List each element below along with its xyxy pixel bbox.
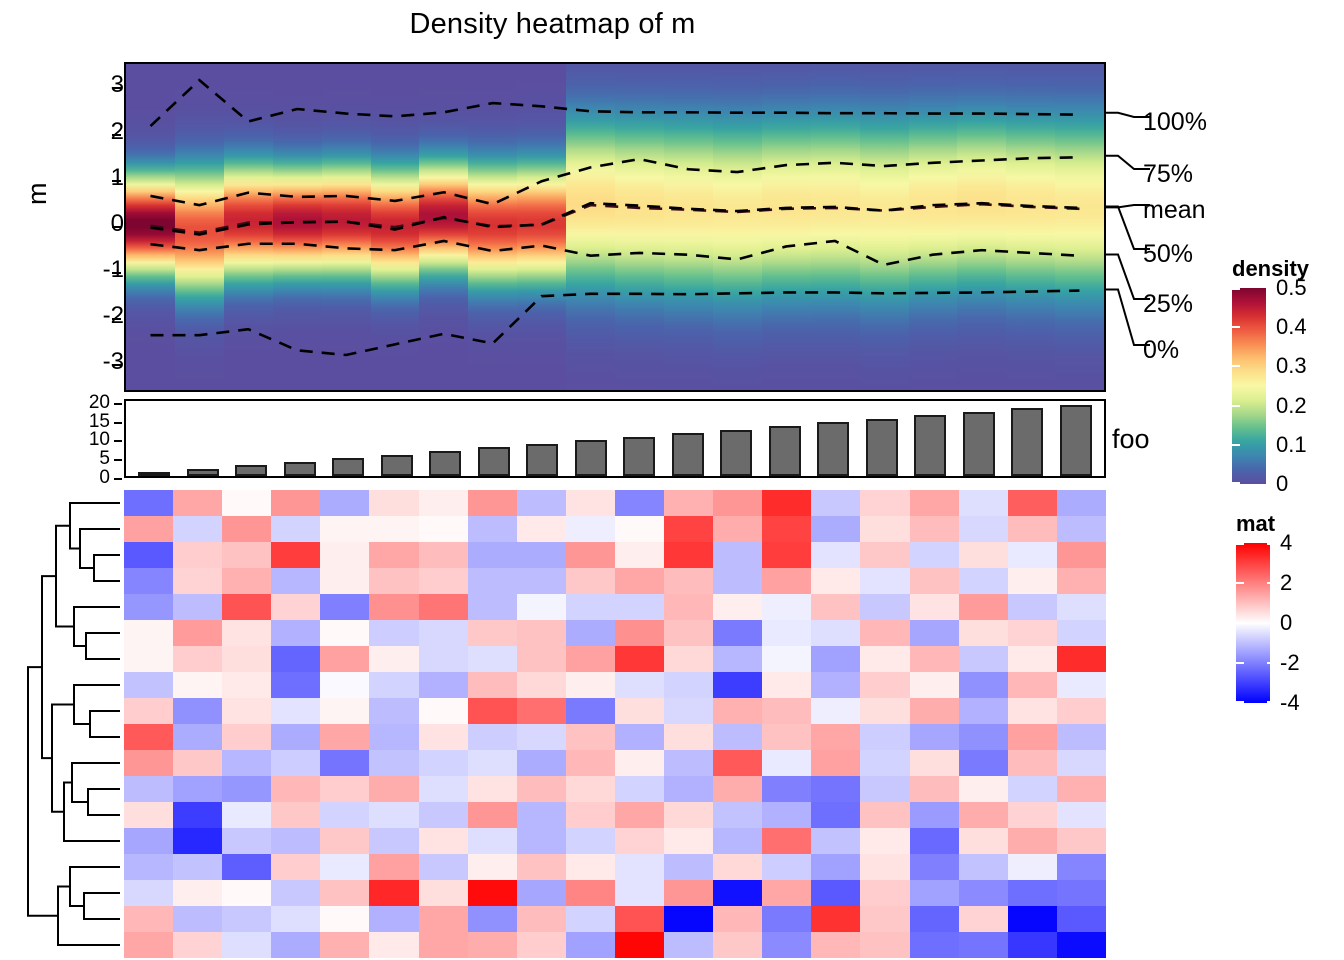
- mat-cell[interactable]: [124, 568, 173, 594]
- mat-cell[interactable]: [664, 490, 713, 516]
- mat-cell[interactable]: [762, 724, 811, 750]
- mat-cell[interactable]: [713, 516, 762, 542]
- mat-cell[interactable]: [124, 516, 173, 542]
- mat-cell[interactable]: [1057, 828, 1106, 854]
- mat-cell[interactable]: [762, 932, 811, 958]
- mat-cell[interactable]: [369, 646, 418, 672]
- mat-cell[interactable]: [762, 594, 811, 620]
- mat-cell[interactable]: [173, 490, 222, 516]
- mat-cell[interactable]: [468, 724, 517, 750]
- mat-cell[interactable]: [860, 932, 909, 958]
- mat-cell[interactable]: [1057, 568, 1106, 594]
- mat-cell[interactable]: [713, 802, 762, 828]
- mat-cell[interactable]: [468, 490, 517, 516]
- mat-cell[interactable]: [271, 620, 320, 646]
- mat-cell[interactable]: [615, 542, 664, 568]
- bar[interactable]: [138, 472, 170, 476]
- mat-cell[interactable]: [173, 568, 222, 594]
- mat-cell[interactable]: [369, 906, 418, 932]
- mat-cell[interactable]: [1008, 672, 1057, 698]
- mat-cell[interactable]: [1008, 646, 1057, 672]
- mat-cell[interactable]: [271, 828, 320, 854]
- mat-cell[interactable]: [1057, 672, 1106, 698]
- mat-cell[interactable]: [419, 906, 468, 932]
- mat-cell[interactable]: [173, 880, 222, 906]
- mat-cell[interactable]: [468, 516, 517, 542]
- mat-cell[interactable]: [566, 750, 615, 776]
- mat-cell[interactable]: [369, 490, 418, 516]
- mat-cell[interactable]: [1008, 906, 1057, 932]
- mat-cell[interactable]: [959, 724, 1008, 750]
- mat-cell[interactable]: [222, 750, 271, 776]
- mat-cell[interactable]: [320, 568, 369, 594]
- mat-cell[interactable]: [320, 672, 369, 698]
- mat-cell[interactable]: [860, 516, 909, 542]
- mat-cell[interactable]: [222, 906, 271, 932]
- mat-cell[interactable]: [566, 854, 615, 880]
- row-dendrogram[interactable]: [8, 490, 120, 958]
- mat-cell[interactable]: [615, 880, 664, 906]
- mat-cell[interactable]: [271, 542, 320, 568]
- mat-cell[interactable]: [320, 750, 369, 776]
- mat-cell[interactable]: [959, 620, 1008, 646]
- mat-cell[interactable]: [713, 828, 762, 854]
- mat-cell[interactable]: [419, 724, 468, 750]
- mat-cell[interactable]: [173, 672, 222, 698]
- mat-cell[interactable]: [664, 828, 713, 854]
- mat-cell[interactable]: [173, 932, 222, 958]
- mat-cell[interactable]: [517, 906, 566, 932]
- mat-cell[interactable]: [222, 828, 271, 854]
- mat-cell[interactable]: [1057, 542, 1106, 568]
- mat-cell[interactable]: [860, 490, 909, 516]
- bar[interactable]: [526, 444, 558, 476]
- mat-cell[interactable]: [959, 880, 1008, 906]
- mat-cell[interactable]: [762, 698, 811, 724]
- mat-cell[interactable]: [811, 750, 860, 776]
- mat-cell[interactable]: [468, 750, 517, 776]
- mat-cell[interactable]: [222, 672, 271, 698]
- mat-cell[interactable]: [320, 802, 369, 828]
- mat-cell[interactable]: [419, 828, 468, 854]
- mat-cell[interactable]: [860, 620, 909, 646]
- mat-cell[interactable]: [664, 542, 713, 568]
- mat-cell[interactable]: [811, 802, 860, 828]
- mat-cell[interactable]: [320, 490, 369, 516]
- mat-cell[interactable]: [713, 594, 762, 620]
- mat-cell[interactable]: [860, 906, 909, 932]
- mat-cell[interactable]: [1008, 698, 1057, 724]
- mat-cell[interactable]: [1008, 880, 1057, 906]
- mat-cell[interactable]: [615, 568, 664, 594]
- mat-cell[interactable]: [173, 620, 222, 646]
- mat-cell[interactable]: [811, 776, 860, 802]
- mat-cell[interactable]: [271, 490, 320, 516]
- mat-cell[interactable]: [762, 802, 811, 828]
- bar[interactable]: [720, 430, 752, 476]
- mat-cell[interactable]: [615, 776, 664, 802]
- mat-cell[interactable]: [664, 698, 713, 724]
- mat-cell[interactable]: [124, 776, 173, 802]
- mat-cell[interactable]: [320, 854, 369, 880]
- mat-cell[interactable]: [566, 698, 615, 724]
- mat-cell[interactable]: [419, 698, 468, 724]
- bar[interactable]: [575, 440, 607, 476]
- mat-cell[interactable]: [173, 724, 222, 750]
- mat-cell[interactable]: [762, 750, 811, 776]
- mat-cell[interactable]: [369, 516, 418, 542]
- mat-cell[interactable]: [811, 594, 860, 620]
- mat-cell[interactable]: [271, 646, 320, 672]
- bar[interactable]: [478, 447, 510, 476]
- mat-cell[interactable]: [664, 854, 713, 880]
- mat-cell[interactable]: [762, 620, 811, 646]
- mat-cell[interactable]: [419, 620, 468, 646]
- mat-cell[interactable]: [762, 568, 811, 594]
- mat-cell[interactable]: [713, 646, 762, 672]
- mat-cell[interactable]: [762, 880, 811, 906]
- mat-cell[interactable]: [517, 568, 566, 594]
- bar[interactable]: [866, 419, 898, 476]
- mat-cell[interactable]: [517, 672, 566, 698]
- mat-cell[interactable]: [1008, 854, 1057, 880]
- mat-cell[interactable]: [811, 646, 860, 672]
- bar[interactable]: [672, 433, 704, 476]
- mat-cell[interactable]: [222, 698, 271, 724]
- mat-cell[interactable]: [419, 750, 468, 776]
- mat-cell[interactable]: [517, 594, 566, 620]
- mat-cell[interactable]: [615, 750, 664, 776]
- mat-cell[interactable]: [173, 854, 222, 880]
- mat-cell[interactable]: [664, 568, 713, 594]
- mat-cell[interactable]: [713, 750, 762, 776]
- mat-cell[interactable]: [173, 906, 222, 932]
- mat-cell[interactable]: [811, 490, 860, 516]
- mat-cell[interactable]: [173, 594, 222, 620]
- mat-cell[interactable]: [222, 646, 271, 672]
- mat-cell[interactable]: [517, 802, 566, 828]
- mat-cell[interactable]: [271, 672, 320, 698]
- mat-cell[interactable]: [468, 906, 517, 932]
- mat-cell[interactable]: [468, 802, 517, 828]
- mat-cell[interactable]: [566, 932, 615, 958]
- mat-cell[interactable]: [271, 724, 320, 750]
- mat-cell[interactable]: [468, 932, 517, 958]
- bar[interactable]: [429, 451, 461, 476]
- mat-cell[interactable]: [860, 672, 909, 698]
- mat-cell[interactable]: [468, 698, 517, 724]
- mat-cell[interactable]: [173, 646, 222, 672]
- mat-cell[interactable]: [762, 828, 811, 854]
- mat-cell[interactable]: [860, 750, 909, 776]
- mat-cell[interactable]: [124, 802, 173, 828]
- mat-cell[interactable]: [173, 750, 222, 776]
- mat-cell[interactable]: [910, 620, 959, 646]
- mat-cell[interactable]: [713, 672, 762, 698]
- mat-cell[interactable]: [566, 672, 615, 698]
- mat-cell[interactable]: [1008, 932, 1057, 958]
- mat-cell[interactable]: [860, 594, 909, 620]
- mat-cell[interactable]: [713, 854, 762, 880]
- mat-cell[interactable]: [713, 620, 762, 646]
- mat-cell[interactable]: [664, 724, 713, 750]
- mat-cell[interactable]: [615, 724, 664, 750]
- mat-cell[interactable]: [173, 776, 222, 802]
- mat-cell[interactable]: [713, 724, 762, 750]
- mat-cell[interactable]: [959, 542, 1008, 568]
- mat-cell[interactable]: [222, 724, 271, 750]
- mat-cell[interactable]: [369, 568, 418, 594]
- mat-cell[interactable]: [419, 490, 468, 516]
- mat-cell[interactable]: [271, 880, 320, 906]
- mat-cell[interactable]: [910, 828, 959, 854]
- mat-cell[interactable]: [124, 880, 173, 906]
- mat-cell[interactable]: [173, 516, 222, 542]
- mat-cell[interactable]: [615, 620, 664, 646]
- bar[interactable]: [1011, 408, 1043, 476]
- mat-cell[interactable]: [664, 932, 713, 958]
- bar[interactable]: [381, 455, 413, 476]
- mat-cell[interactable]: [271, 776, 320, 802]
- mat-cell[interactable]: [419, 568, 468, 594]
- mat-cell[interactable]: [910, 932, 959, 958]
- mat-cell[interactable]: [1057, 516, 1106, 542]
- mat-cell[interactable]: [713, 568, 762, 594]
- mat-cell[interactable]: [910, 516, 959, 542]
- mat-cell[interactable]: [320, 880, 369, 906]
- mat-cell[interactable]: [713, 906, 762, 932]
- mat-cell[interactable]: [517, 854, 566, 880]
- mat-cell[interactable]: [1008, 490, 1057, 516]
- mat-cell[interactable]: [222, 620, 271, 646]
- mat-cell[interactable]: [762, 516, 811, 542]
- mat-cell[interactable]: [762, 490, 811, 516]
- mat-cell[interactable]: [222, 516, 271, 542]
- mat-cell[interactable]: [320, 516, 369, 542]
- mat-cell[interactable]: [369, 542, 418, 568]
- mat-cell[interactable]: [517, 828, 566, 854]
- mat-cell[interactable]: [1008, 828, 1057, 854]
- mat-cell[interactable]: [320, 698, 369, 724]
- mat-cell[interactable]: [959, 802, 1008, 828]
- bar[interactable]: [769, 426, 801, 476]
- mat-cell[interactable]: [860, 854, 909, 880]
- mat-cell[interactable]: [468, 542, 517, 568]
- mat-cell[interactable]: [124, 854, 173, 880]
- mat-cell[interactable]: [468, 672, 517, 698]
- mat-cell[interactable]: [419, 516, 468, 542]
- mat-cell[interactable]: [419, 646, 468, 672]
- mat-cell[interactable]: [222, 802, 271, 828]
- mat-cell[interactable]: [566, 828, 615, 854]
- mat-cell[interactable]: [320, 620, 369, 646]
- mat-cell[interactable]: [1057, 490, 1106, 516]
- mat-cell[interactable]: [419, 880, 468, 906]
- mat-cell[interactable]: [468, 568, 517, 594]
- mat-cell[interactable]: [1008, 568, 1057, 594]
- mat-cell[interactable]: [1057, 776, 1106, 802]
- mat-cell[interactable]: [369, 828, 418, 854]
- mat-cell[interactable]: [566, 646, 615, 672]
- mat-cell[interactable]: [1008, 724, 1057, 750]
- mat-cell[interactable]: [517, 490, 566, 516]
- mat-cell[interactable]: [271, 568, 320, 594]
- bar[interactable]: [817, 422, 849, 476]
- mat-cell[interactable]: [860, 880, 909, 906]
- mat-cell[interactable]: [566, 880, 615, 906]
- mat-cell[interactable]: [369, 776, 418, 802]
- mat-cell[interactable]: [811, 542, 860, 568]
- mat-cell[interactable]: [1057, 880, 1106, 906]
- mat-cell[interactable]: [910, 490, 959, 516]
- mat-cell[interactable]: [271, 906, 320, 932]
- mat-cell[interactable]: [222, 542, 271, 568]
- mat-cell[interactable]: [1057, 854, 1106, 880]
- mat-cell[interactable]: [615, 516, 664, 542]
- mat-cell[interactable]: [910, 672, 959, 698]
- mat-cell[interactable]: [517, 542, 566, 568]
- mat-cell[interactable]: [615, 932, 664, 958]
- mat-heatmap-panel[interactable]: [124, 490, 1106, 958]
- mat-cell[interactable]: [468, 854, 517, 880]
- mat-cell[interactable]: [615, 802, 664, 828]
- mat-cell[interactable]: [419, 594, 468, 620]
- mat-cell[interactable]: [959, 776, 1008, 802]
- mat-cell[interactable]: [1057, 802, 1106, 828]
- mat-cell[interactable]: [222, 594, 271, 620]
- mat-cell[interactable]: [615, 594, 664, 620]
- mat-cell[interactable]: [1057, 750, 1106, 776]
- mat-cell[interactable]: [222, 776, 271, 802]
- mat-cell[interactable]: [124, 620, 173, 646]
- mat-cell[interactable]: [369, 620, 418, 646]
- mat-cell[interactable]: [173, 698, 222, 724]
- mat-cell[interactable]: [615, 646, 664, 672]
- mat-cell[interactable]: [664, 672, 713, 698]
- mat-cell[interactable]: [124, 490, 173, 516]
- mat-cell[interactable]: [517, 516, 566, 542]
- mat-cell[interactable]: [222, 880, 271, 906]
- mat-cell[interactable]: [1008, 750, 1057, 776]
- mat-cell[interactable]: [664, 906, 713, 932]
- mat-cell[interactable]: [860, 542, 909, 568]
- bar[interactable]: [187, 469, 219, 476]
- mat-cell[interactable]: [910, 594, 959, 620]
- mat-cell[interactable]: [959, 698, 1008, 724]
- mat-cell[interactable]: [124, 646, 173, 672]
- mat-cell[interactable]: [1008, 594, 1057, 620]
- mat-cell[interactable]: [419, 672, 468, 698]
- mat-cell[interactable]: [860, 698, 909, 724]
- bar[interactable]: [284, 462, 316, 476]
- foo-barplot-panel[interactable]: [124, 399, 1106, 478]
- mat-cell[interactable]: [762, 776, 811, 802]
- mat-cell[interactable]: [860, 802, 909, 828]
- mat-cell[interactable]: [762, 906, 811, 932]
- mat-cell[interactable]: [762, 672, 811, 698]
- mat-cell[interactable]: [811, 828, 860, 854]
- mat-cell[interactable]: [320, 932, 369, 958]
- mat-cell[interactable]: [811, 568, 860, 594]
- mat-cell[interactable]: [910, 854, 959, 880]
- density-heatmap-panel[interactable]: [124, 62, 1106, 392]
- mat-cell[interactable]: [419, 854, 468, 880]
- mat-cell[interactable]: [860, 646, 909, 672]
- mat-cell[interactable]: [1008, 516, 1057, 542]
- mat-cell[interactable]: [369, 932, 418, 958]
- mat-cell[interactable]: [1057, 594, 1106, 620]
- mat-cell[interactable]: [959, 828, 1008, 854]
- mat-cell[interactable]: [320, 828, 369, 854]
- mat-cell[interactable]: [222, 932, 271, 958]
- mat-cell[interactable]: [419, 542, 468, 568]
- mat-cell[interactable]: [860, 776, 909, 802]
- mat-cell[interactable]: [959, 594, 1008, 620]
- mat-cell[interactable]: [713, 698, 762, 724]
- mat-cell[interactable]: [468, 776, 517, 802]
- mat-cell[interactable]: [860, 568, 909, 594]
- mat-cell[interactable]: [517, 620, 566, 646]
- mat-cell[interactable]: [369, 672, 418, 698]
- mat-cell[interactable]: [1057, 646, 1106, 672]
- mat-cell[interactable]: [124, 698, 173, 724]
- mat-cell[interactable]: [1008, 776, 1057, 802]
- mat-cell[interactable]: [369, 698, 418, 724]
- mat-cell[interactable]: [468, 594, 517, 620]
- mat-cell[interactable]: [271, 750, 320, 776]
- mat-cell[interactable]: [124, 672, 173, 698]
- mat-cell[interactable]: [762, 542, 811, 568]
- density-legend[interactable]: density 0.50.40.30.20.10: [1232, 256, 1309, 484]
- mat-cell[interactable]: [419, 802, 468, 828]
- mat-cell[interactable]: [124, 542, 173, 568]
- mat-cell[interactable]: [222, 854, 271, 880]
- mat-cell[interactable]: [1057, 724, 1106, 750]
- mat-cell[interactable]: [517, 932, 566, 958]
- mat-cell[interactable]: [910, 568, 959, 594]
- mat-cell[interactable]: [320, 646, 369, 672]
- mat-cell[interactable]: [959, 490, 1008, 516]
- mat-cell[interactable]: [860, 724, 909, 750]
- mat-cell[interactable]: [959, 932, 1008, 958]
- mat-cell[interactable]: [615, 906, 664, 932]
- mat-cell[interactable]: [173, 802, 222, 828]
- mat-cell[interactable]: [959, 854, 1008, 880]
- mat-cell[interactable]: [811, 724, 860, 750]
- mat-cell[interactable]: [615, 854, 664, 880]
- mat-cell[interactable]: [615, 698, 664, 724]
- mat-cell[interactable]: [124, 932, 173, 958]
- mat-cell[interactable]: [713, 490, 762, 516]
- mat-cell[interactable]: [369, 750, 418, 776]
- mat-cell[interactable]: [468, 828, 517, 854]
- mat-cell[interactable]: [271, 594, 320, 620]
- mat-cell[interactable]: [664, 750, 713, 776]
- mat-cell[interactable]: [1057, 906, 1106, 932]
- mat-cell[interactable]: [566, 542, 615, 568]
- mat-cell[interactable]: [615, 828, 664, 854]
- mat-cell[interactable]: [811, 698, 860, 724]
- mat-cell[interactable]: [124, 750, 173, 776]
- mat-cell[interactable]: [173, 542, 222, 568]
- mat-cell[interactable]: [615, 672, 664, 698]
- mat-cell[interactable]: [566, 906, 615, 932]
- mat-cell[interactable]: [566, 724, 615, 750]
- bar[interactable]: [963, 412, 995, 476]
- mat-cell[interactable]: [1008, 542, 1057, 568]
- mat-cell[interactable]: [910, 880, 959, 906]
- mat-cell[interactable]: [419, 776, 468, 802]
